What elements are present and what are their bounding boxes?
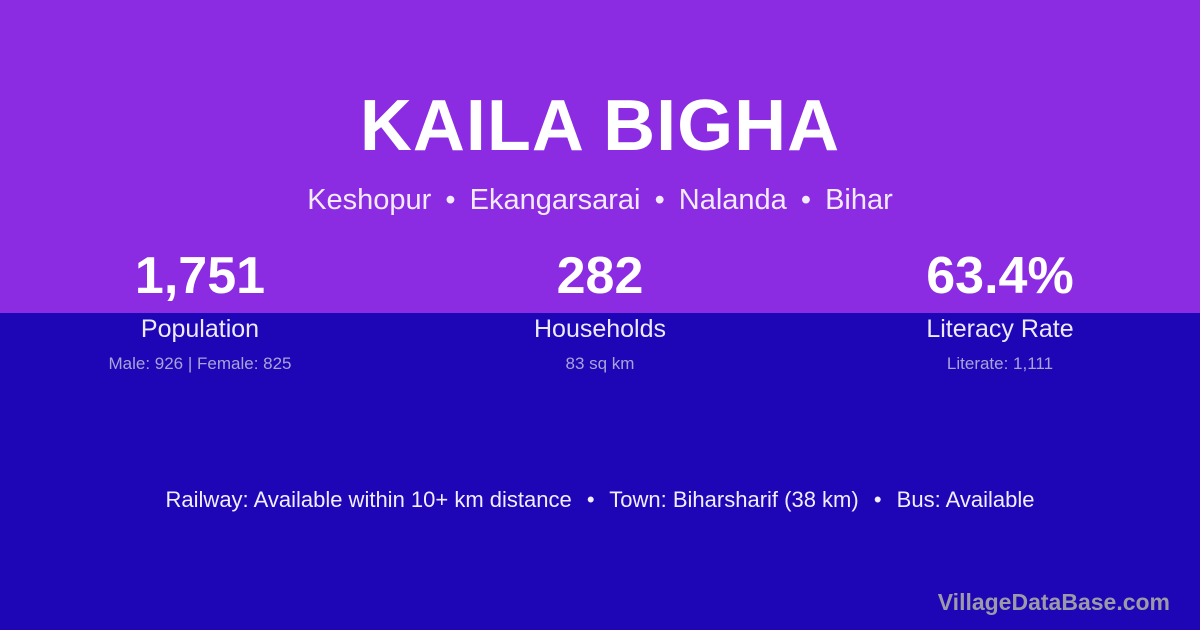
stat-literacy-rate-value: 63.4% [800, 246, 1200, 306]
breadcrumb-separator-icon: • [439, 184, 461, 216]
breadcrumb-separator-icon: • [649, 184, 671, 216]
card-content: KAILA BIGHA Keshopur • Ekangarsarai • Na… [0, 0, 1200, 630]
breadcrumb-separator-icon: • [795, 184, 817, 216]
amenity-separator-icon: • [865, 487, 891, 512]
breadcrumb-part-village: Keshopur [307, 184, 431, 216]
site-branding: VillageDataBase.com [938, 588, 1170, 616]
amenity-bus: Bus: Available [897, 487, 1035, 512]
stat-literacy-rate-label: Literacy Rate [800, 314, 1200, 344]
breadcrumb-part-district: Nalanda [679, 184, 787, 216]
amenity-town: Town: Biharsharif (38 km) [609, 487, 858, 512]
stats-row: 1,751 Population Male: 926 | Female: 825… [0, 246, 1200, 374]
page-title: KAILA BIGHA [0, 83, 1200, 169]
breadcrumb-part-block: Ekangarsarai [470, 184, 641, 216]
breadcrumb-part-state: Bihar [825, 184, 893, 216]
breadcrumb: Keshopur • Ekangarsarai • Nalanda • Biha… [0, 182, 1200, 218]
stat-households-label: Households [400, 314, 800, 344]
stat-population-value: 1,751 [0, 246, 400, 306]
stat-population-label: Population [0, 314, 400, 344]
amenity-railway: Railway: Available within 10+ km distanc… [166, 487, 572, 512]
stat-households: 282 Households 83 sq km [400, 246, 800, 374]
village-info-card: KAILA BIGHA Keshopur • Ekangarsarai • Na… [0, 0, 1200, 630]
stat-households-area: 83 sq km [400, 353, 800, 374]
stat-population: 1,751 Population Male: 926 | Female: 825 [0, 246, 400, 374]
amenity-separator-icon: • [578, 487, 604, 512]
stat-population-breakdown: Male: 926 | Female: 825 [0, 353, 400, 374]
stat-literacy-count: Literate: 1,111 [800, 353, 1200, 374]
stat-households-value: 282 [400, 246, 800, 306]
amenities-line: Railway: Available within 10+ km distanc… [0, 486, 1200, 514]
stat-literacy-rate: 63.4% Literacy Rate Literate: 1,111 [800, 246, 1200, 374]
